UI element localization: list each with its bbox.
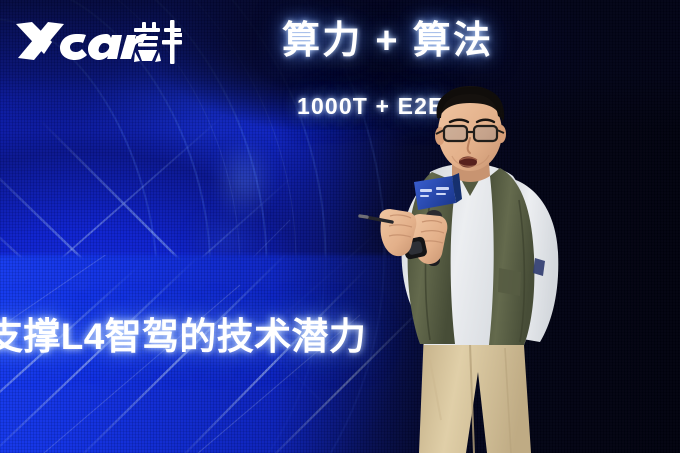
xcar-watermark-logo: [14, 16, 182, 70]
speaker-head: [435, 86, 506, 171]
speaker-trousers: [419, 330, 531, 453]
screenshot-stage: 算力 + 算法 1000T + E2E 支撑L4智驾的技术潜力: [0, 0, 680, 453]
sleeve-badge: [533, 258, 545, 276]
